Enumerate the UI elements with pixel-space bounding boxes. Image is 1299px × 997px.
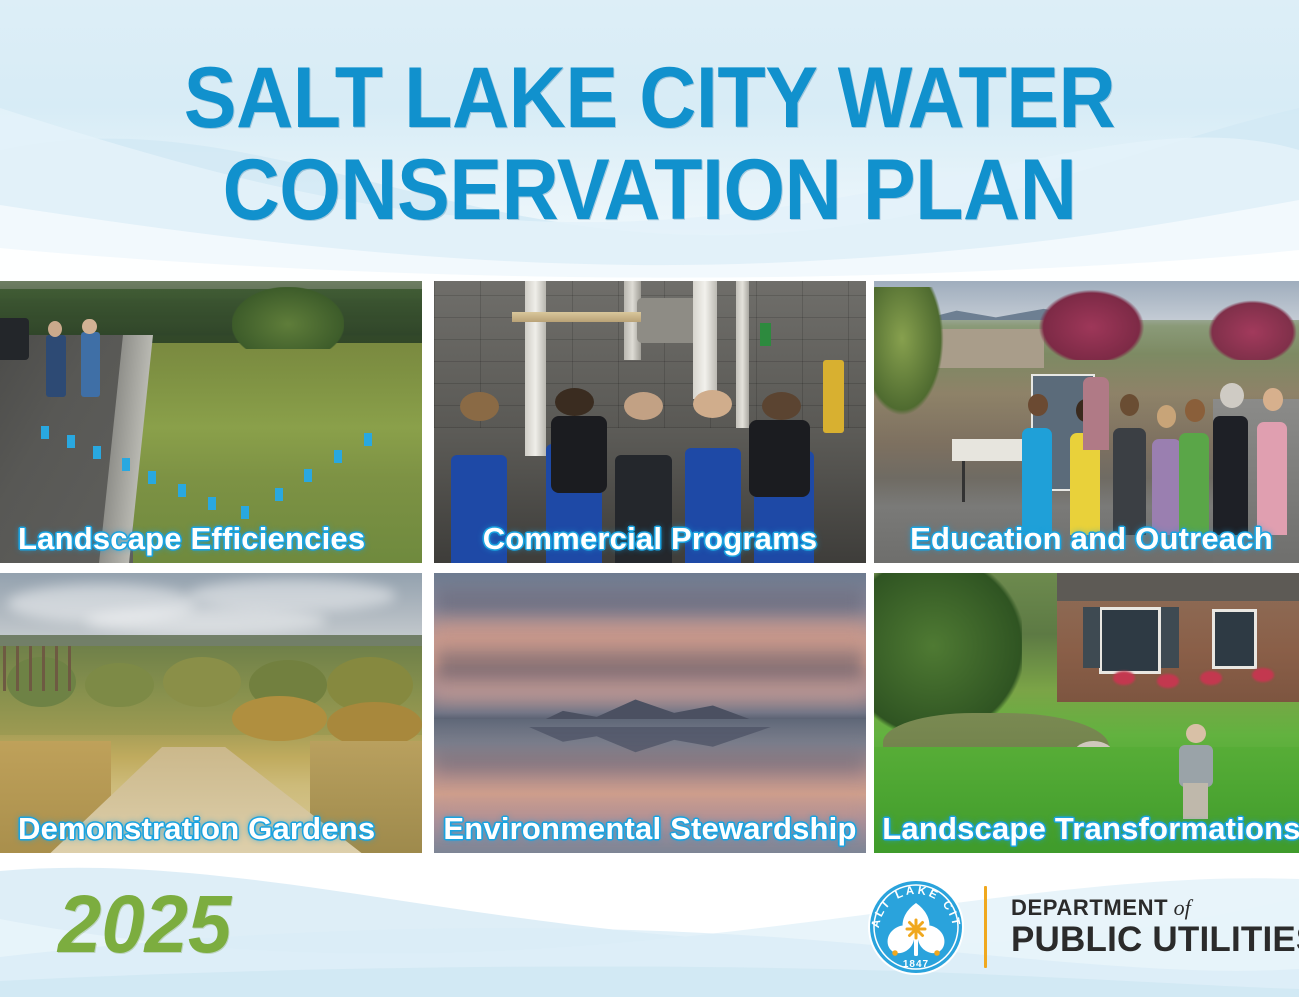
photo-caption: Commercial Programs	[434, 521, 866, 557]
top-banner: SALT LAKE CITY WATER CONSERVATION PLAN	[0, 0, 1299, 281]
cover-page: SALT LAKE CITY WATER CONSERVATION PLAN	[0, 0, 1299, 997]
title-line-2: CONSERVATION PLAN	[52, 144, 1247, 236]
photo-caption: Environmental Stewardship	[434, 811, 866, 847]
department-prefix: DEPARTMENT	[1011, 895, 1168, 920]
cover-title: SALT LAKE CITY WATER CONSERVATION PLAN	[0, 52, 1299, 236]
year-label: 2025	[58, 884, 231, 966]
photo-tile-education-and-outreach[interactable]: Education and Outreach	[874, 281, 1299, 563]
department-name: PUBLIC UTILITIES	[1011, 921, 1299, 959]
sego-lily-seal-icon: SALT LAKE CITY 1847	[866, 877, 966, 977]
department-wordmark: DEPARTMENT of PUBLIC UTILITIES	[1011, 895, 1299, 959]
photo-tile-landscape-efficiencies[interactable]: Landscape Efficiencies	[0, 281, 422, 563]
photo-tile-environmental-stewardship[interactable]: Environmental Stewardship	[434, 573, 866, 853]
photo-tile-commercial-programs[interactable]: Commercial Programs	[434, 281, 866, 563]
department-prefix-line: DEPARTMENT of	[1011, 895, 1299, 921]
slc-public-utilities-logo: SALT LAKE CITY 1847	[866, 877, 1299, 977]
photo-caption: Landscape Transformations	[874, 811, 1299, 847]
title-line-1: SALT LAKE CITY WATER	[52, 52, 1247, 144]
photo-caption: Demonstration Gardens	[0, 811, 422, 847]
photo-caption: Education and Outreach	[874, 521, 1299, 557]
logo-divider	[984, 886, 987, 968]
seal-year-text: 1847	[903, 959, 929, 970]
photo-tile-demonstration-gardens[interactable]: Demonstration Gardens	[0, 573, 422, 853]
photo-grid: Landscape Efficiencies	[0, 281, 1299, 853]
person-figure	[1179, 724, 1214, 819]
photo-caption: Landscape Efficiencies	[0, 521, 422, 557]
photo-tile-landscape-transformations[interactable]: Landscape Transformations	[874, 573, 1299, 853]
department-of: of	[1168, 895, 1191, 920]
